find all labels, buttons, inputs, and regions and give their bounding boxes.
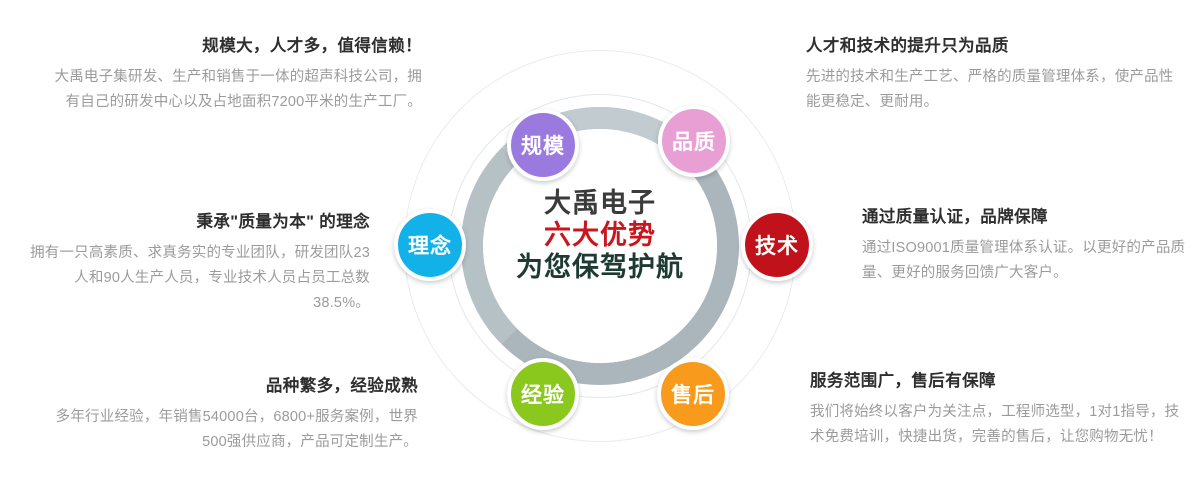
feature-title: 人才和技术的提升只为品质: [806, 32, 1178, 56]
badge-quality[interactable]: 品质: [658, 105, 730, 177]
feature-title: 规模大，人才多，值得信赖！: [50, 32, 422, 56]
badge-experience[interactable]: 经验: [507, 358, 579, 430]
infographic-canvas: 规模大，人才多，值得信赖！ 大禹电子集研发、生产和销售于一体的超声科技公司，拥有…: [0, 0, 1200, 492]
feature-block-scale: 规模大，人才多，值得信赖！ 大禹电子集研发、生产和销售于一体的超声科技公司，拥有…: [50, 32, 422, 115]
badge-philosophy[interactable]: 理念: [394, 209, 466, 281]
feature-body: 先进的技术和生产工艺、严格的质量管理体系，使产品性能更稳定、更耐用。: [806, 65, 1178, 115]
feature-body: 通过ISO9001质量管理体系认证。以更好的产品质量、更好的服务回馈广大客户。: [862, 236, 1192, 286]
badge-after-sales[interactable]: 售后: [657, 358, 729, 430]
feature-title: 秉承"质量为本" 的理念: [30, 208, 370, 232]
feature-block-quality: 人才和技术的提升只为品质 先进的技术和生产工艺、严格的质量管理体系，使产品性能更…: [806, 32, 1178, 115]
badge-scale[interactable]: 规模: [507, 109, 579, 181]
feature-block-certification: 通过质量认证，品牌保障 通过ISO9001质量管理体系认证。以更好的产品质量、更…: [862, 203, 1192, 286]
feature-body: 拥有一只高素质、求真务实的专业团队，研发团队23人和90人生产人员，专业技术人员…: [30, 241, 370, 316]
feature-title: 通过质量认证，品牌保障: [862, 203, 1192, 227]
feature-title: 品种繁多，经验成熟: [38, 372, 418, 396]
badge-technology[interactable]: 技术: [741, 209, 813, 281]
headline-line-2: 六大优势: [480, 220, 720, 252]
feature-block-philosophy: 秉承"质量为本" 的理念 拥有一只高素质、求真务实的专业团队，研发团队23人和9…: [30, 208, 370, 316]
feature-block-experience: 品种繁多，经验成熟 多年行业经验，年销售54000台，6800+服务案例，世界5…: [38, 372, 418, 455]
feature-body: 大禹电子集研发、生产和销售于一体的超声科技公司，拥有自己的研发中心以及占地面积7…: [50, 65, 422, 115]
feature-body: 多年行业经验，年销售54000台，6800+服务案例，世界500强供应商，产品可…: [38, 405, 418, 455]
feature-title: 服务范围广，售后有保障: [810, 367, 1182, 391]
feature-body: 我们将始终以客户为关注点，工程师选型，1对1指导，技术免费培训，快捷出货，完善的…: [810, 400, 1182, 450]
headline-line-3: 为您保驾护航: [480, 252, 720, 284]
headline-line-1: 大禹电子: [480, 188, 720, 220]
feature-block-service: 服务范围广，售后有保障 我们将始终以客户为关注点，工程师选型，1对1指导，技术免…: [810, 367, 1182, 450]
center-headline: 大禹电子 六大优势 为您保驾护航: [480, 188, 720, 284]
